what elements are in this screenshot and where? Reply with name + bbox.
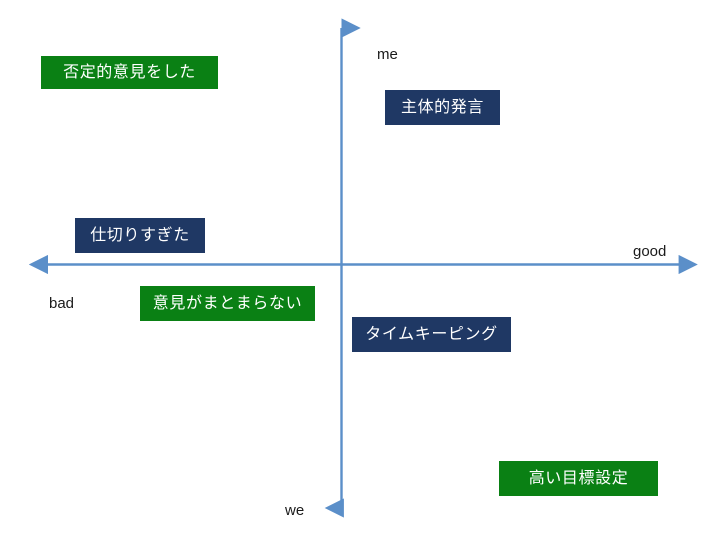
axis-label-bad: bad xyxy=(49,296,74,311)
item-box[interactable]: 仕切りすぎた xyxy=(75,218,205,253)
item-box-label: 主体的発言 xyxy=(401,100,484,116)
item-box-label: 意見がまとまらない xyxy=(153,296,302,312)
item-box[interactable]: 意見がまとまらない xyxy=(140,286,315,321)
item-box[interactable]: 高い目標設定 xyxy=(499,461,658,496)
item-box[interactable]: タイムキーピング xyxy=(352,317,511,352)
quadrant-diagram-canvas: good --> we (down) --> me good bad we 否定… xyxy=(0,0,720,540)
item-box[interactable]: 否定的意見をした xyxy=(41,56,218,89)
item-box-label: タイムキーピング xyxy=(365,327,497,343)
item-box[interactable]: 主体的発言 xyxy=(385,90,500,125)
item-box-label: 否定的意見をした xyxy=(63,65,196,81)
item-box-label: 仕切りすぎた xyxy=(90,228,190,244)
item-box-label: 高い目標設定 xyxy=(529,471,629,487)
axis-label-good: good xyxy=(633,244,666,259)
axis-label-me: me xyxy=(377,47,398,62)
axis-label-we: we xyxy=(285,503,304,518)
